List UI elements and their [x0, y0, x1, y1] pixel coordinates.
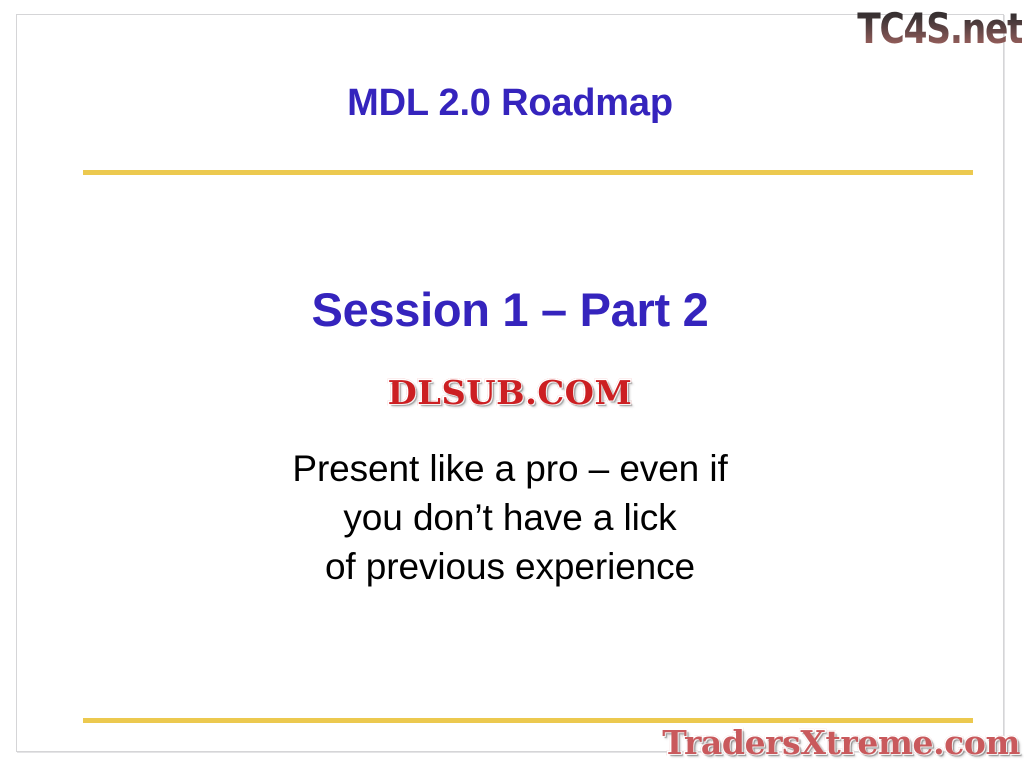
dlsub-watermark-label: DLSUB.COM	[388, 373, 633, 412]
dlsub-watermark: DLSUB.COM	[17, 373, 1003, 412]
top-divider	[83, 170, 973, 175]
page-title: MDL 2.0 Roadmap	[17, 81, 1003, 126]
slide-body-text: Present like a pro – even if you don’t h…	[17, 444, 1003, 591]
slide-canvas: MDL 2.0 Roadmap Session 1 – Part 2 DLSUB…	[16, 14, 1004, 752]
bottom-divider	[83, 718, 973, 723]
session-heading: Session 1 – Part 2	[17, 283, 1003, 337]
